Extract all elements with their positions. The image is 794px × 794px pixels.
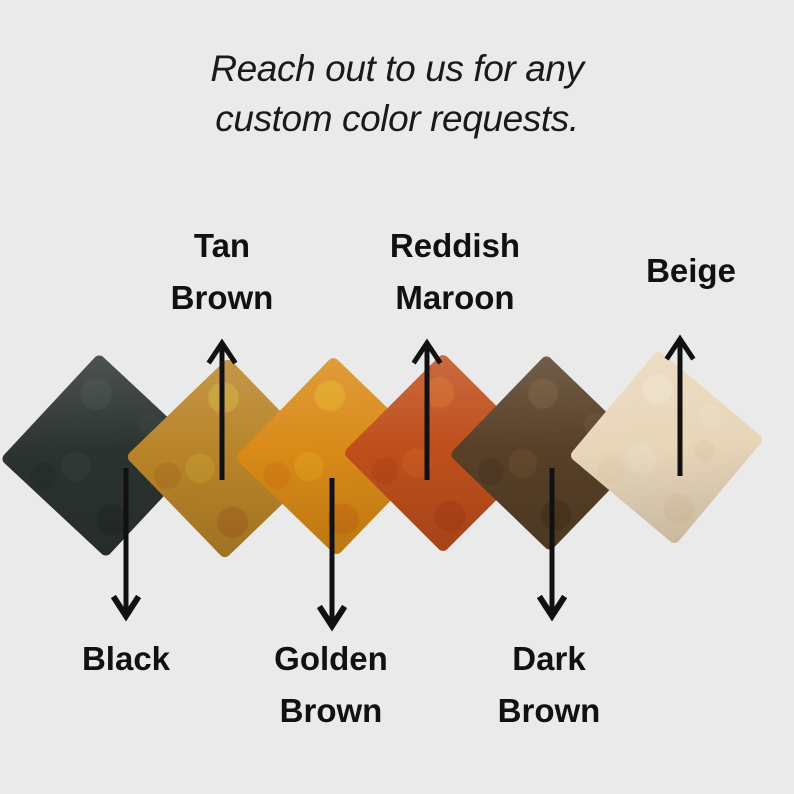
label-black: Black: [26, 633, 226, 685]
label-dark-brown: Dark Brown: [448, 633, 650, 737]
arrow-down-dark-brown: [536, 468, 568, 623]
label-beige: Beige: [588, 245, 794, 297]
arrow-down-black: [110, 468, 142, 623]
label-reddish-maroon: Reddish Maroon: [352, 220, 558, 324]
arrow-up-beige: [664, 331, 696, 476]
color-swatch-graphic: Reach out to us for any custom color req…: [0, 0, 794, 794]
arrow-up-tan-brown: [206, 335, 238, 480]
label-golden-brown: Golden Brown: [230, 633, 432, 737]
arrow-down-golden-brown: [316, 478, 348, 633]
arrow-up-reddish-maroon: [411, 335, 443, 480]
label-tan-brown: Tan Brown: [122, 220, 322, 324]
